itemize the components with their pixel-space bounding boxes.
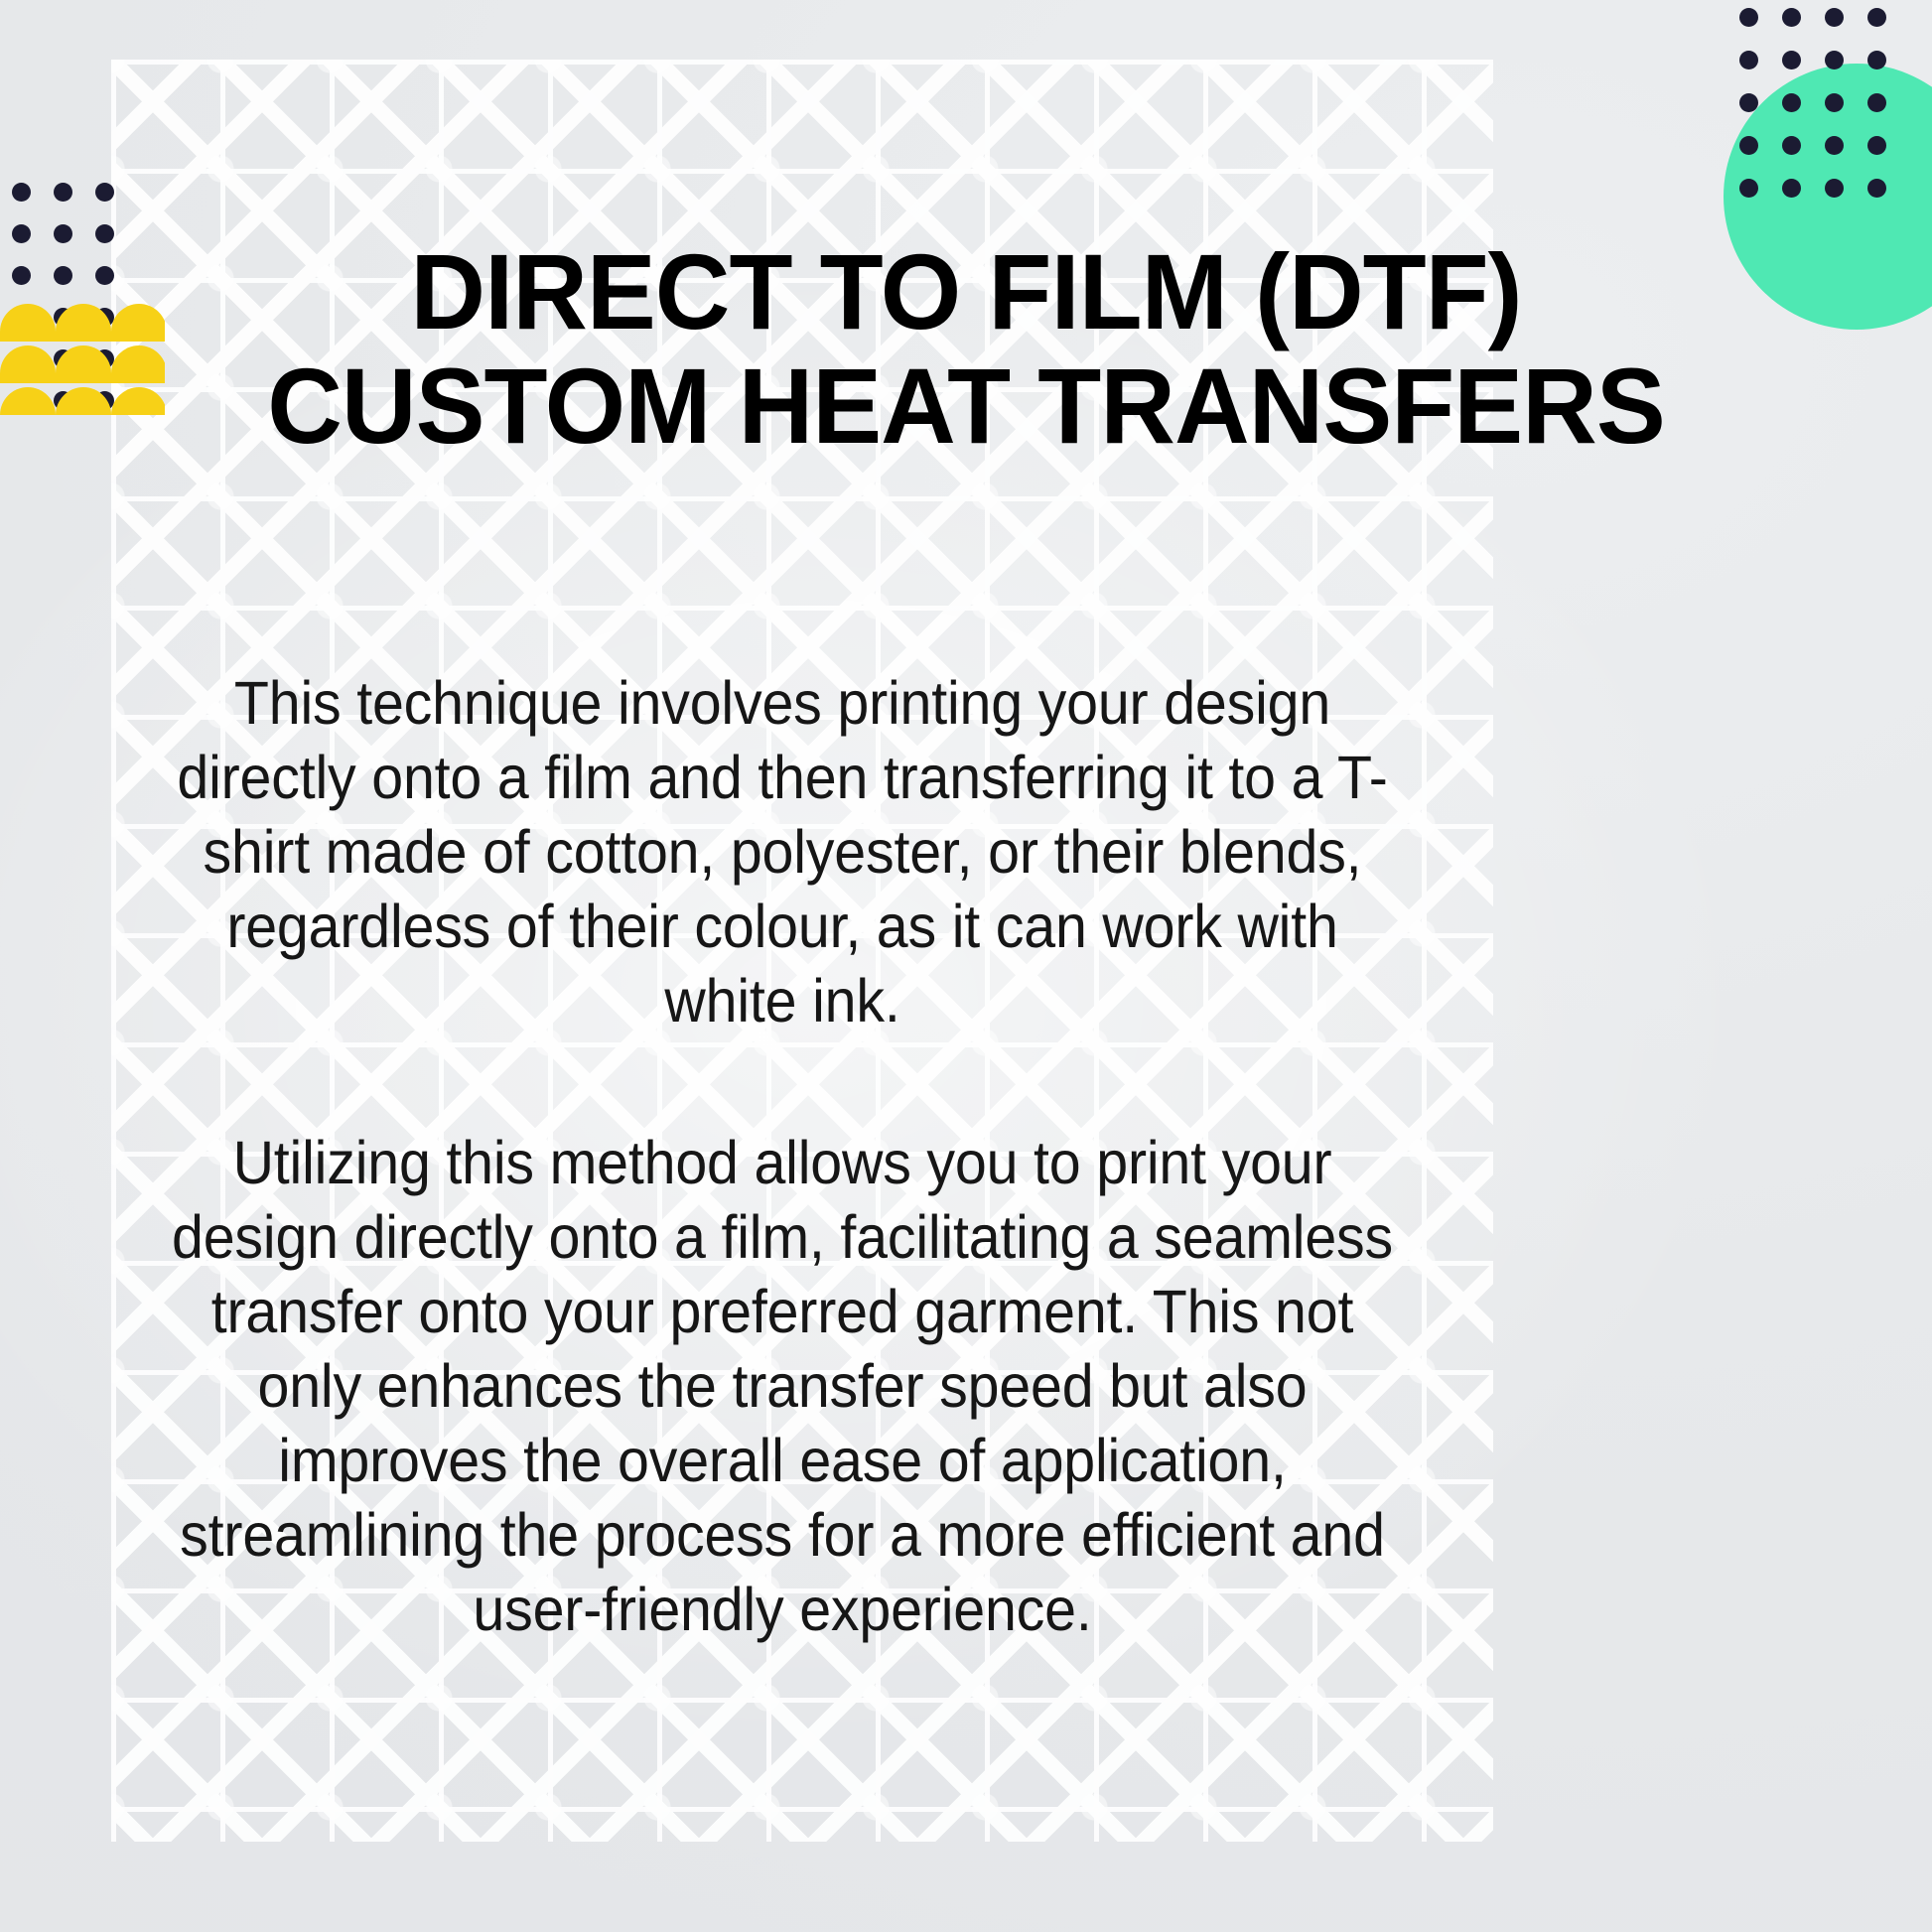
body-copy: This technique involves printing your de…: [117, 606, 1448, 1708]
body-paragraph-1: This technique involves printing your de…: [157, 666, 1408, 1038]
poster-canvas: DIRECT TO FILM (DTF) CUSTOM HEAT TRANSFE…: [0, 0, 1932, 1932]
body-paragraph-2: Utilizing this method allows you to prin…: [157, 1126, 1408, 1647]
page-title-line-2: CUSTOM HEAT TRANSFERS: [221, 349, 1711, 463]
page-title: DIRECT TO FILM (DTF) CUSTOM HEAT TRANSFE…: [221, 235, 1711, 463]
page-title-line-1: DIRECT TO FILM (DTF): [221, 235, 1711, 348]
poster-content: DIRECT TO FILM (DTF) CUSTOM HEAT TRANSFE…: [0, 0, 1932, 1932]
